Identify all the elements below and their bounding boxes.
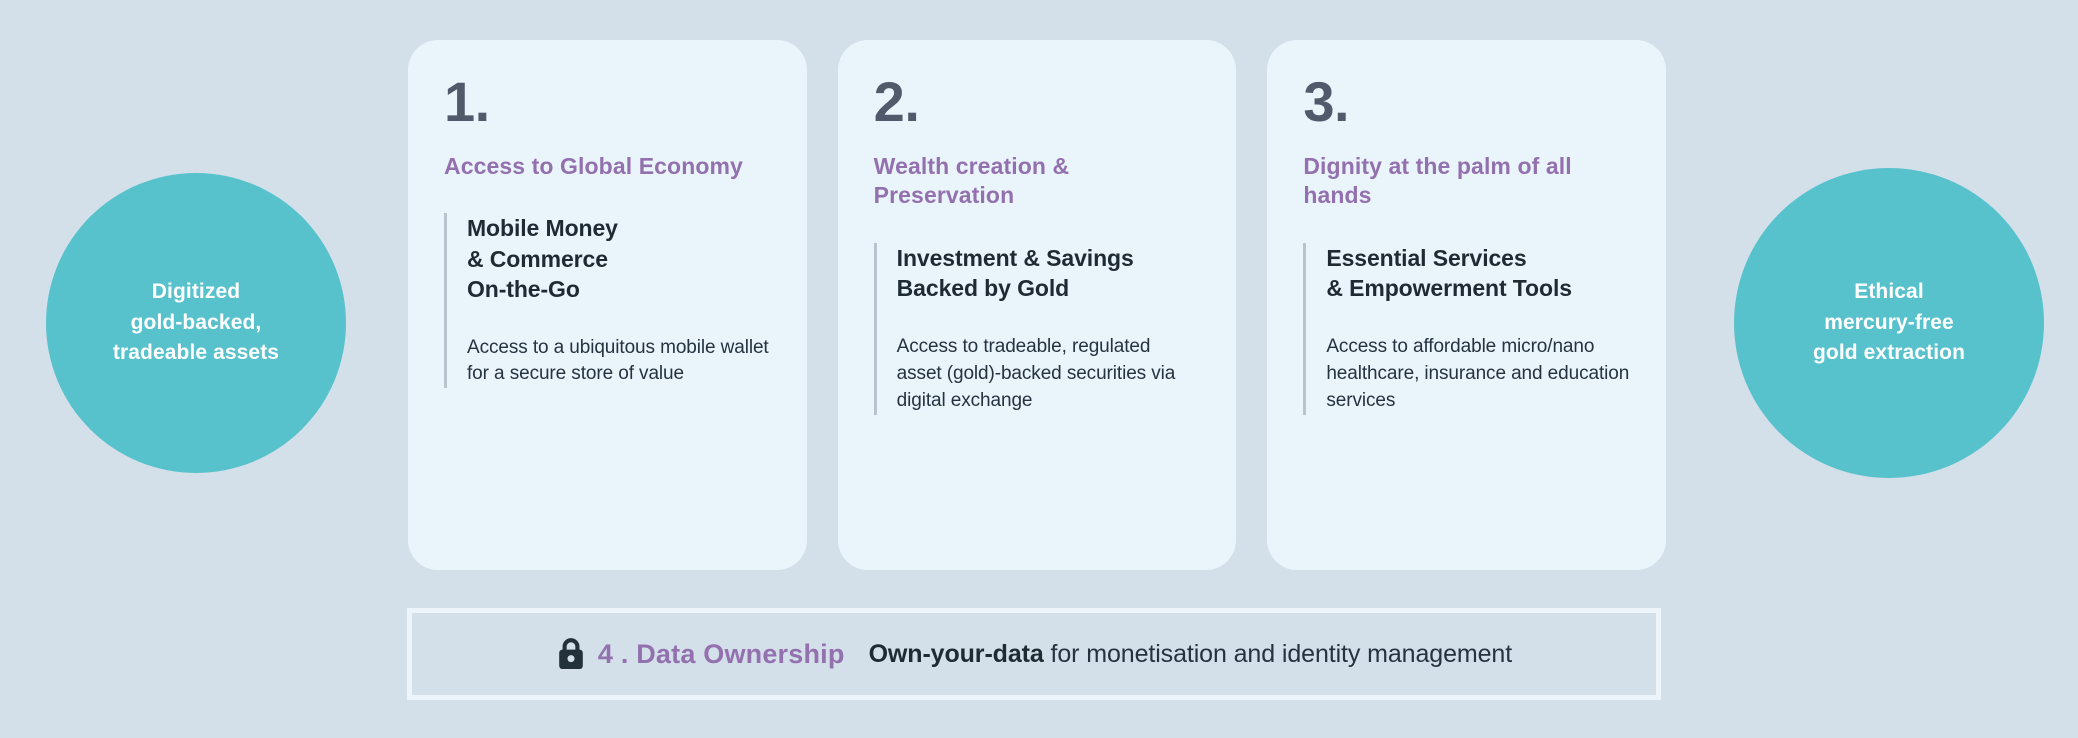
card-3: 3. Dignity at the palm of all hands Esse…	[1267, 40, 1666, 570]
card-1-title: Access to Global Economy	[444, 152, 771, 181]
data-ownership-bar-content: 4 . Data Ownership Own-your-data for mon…	[556, 637, 1512, 671]
left-circle-badge: Digitized gold-backed, tradeable assets	[46, 173, 346, 473]
card-2-subtitle: Investment & Savings Backed by Gold	[897, 243, 1201, 304]
card-2-subtitle-line-2: Backed by Gold	[897, 273, 1201, 303]
left-circle-line-1: Digitized	[113, 277, 279, 307]
card-3-body: Essential Services & Empowerment Tools A…	[1303, 243, 1630, 415]
data-ownership-text: Own-your-data for monetisation and ident…	[869, 640, 1513, 669]
card-2-description: Access to tradeable, regulated asset (go…	[897, 334, 1201, 415]
card-1-subtitle-line-2: & Commerce	[467, 244, 771, 274]
card-3-subtitle-line-2: & Empowerment Tools	[1326, 273, 1630, 303]
right-circle-line-1: Ethical	[1813, 277, 1965, 307]
card-1-subtitle: Mobile Money & Commerce On-the-Go	[467, 213, 771, 304]
card-2-subtitle-line-1: Investment & Savings	[897, 243, 1201, 273]
card-2: 2. Wealth creation & Preservation Invest…	[838, 40, 1237, 570]
card-3-description: Access to affordable micro/nano healthca…	[1326, 334, 1630, 415]
card-3-title: Dignity at the palm of all hands	[1303, 152, 1630, 211]
card-1-body: Mobile Money & Commerce On-the-Go Access…	[444, 213, 771, 388]
left-circle-text: Digitized gold-backed, tradeable assets	[87, 277, 305, 368]
card-1-subtitle-line-1: Mobile Money	[467, 213, 771, 243]
card-1: 1. Access to Global Economy Mobile Money…	[408, 40, 807, 570]
right-circle-badge: Ethical mercury-free gold extraction	[1734, 168, 2044, 478]
lock-icon	[556, 637, 588, 671]
data-ownership-text-rest: for monetisation and identity management	[1044, 640, 1512, 668]
right-circle-line-2: mercury-free	[1813, 308, 1965, 338]
card-3-subtitle-line-1: Essential Services	[1326, 243, 1630, 273]
card-1-number: 1.	[444, 74, 771, 130]
data-ownership-label: 4 . Data Ownership	[598, 639, 845, 670]
cards-row: 1. Access to Global Economy Mobile Money…	[408, 40, 1666, 570]
data-ownership-text-bold: Own-your-data	[869, 640, 1044, 668]
data-ownership-bar: 4 . Data Ownership Own-your-data for mon…	[407, 608, 1661, 700]
card-1-description: Access to a ubiquitous mobile wallet for…	[467, 335, 771, 389]
left-circle-line-2: gold-backed,	[113, 308, 279, 338]
right-circle-line-3: gold extraction	[1813, 338, 1965, 368]
card-2-title: Wealth creation & Preservation	[874, 152, 1201, 211]
left-circle-line-3: tradeable assets	[113, 338, 279, 368]
card-3-subtitle: Essential Services & Empowerment Tools	[1326, 243, 1630, 304]
card-2-number: 2.	[874, 74, 1201, 130]
card-2-body: Investment & Savings Backed by Gold Acce…	[874, 243, 1201, 415]
right-circle-text: Ethical mercury-free gold extraction	[1787, 277, 1991, 368]
card-3-number: 3.	[1303, 74, 1630, 130]
card-1-subtitle-line-3: On-the-Go	[467, 274, 771, 304]
